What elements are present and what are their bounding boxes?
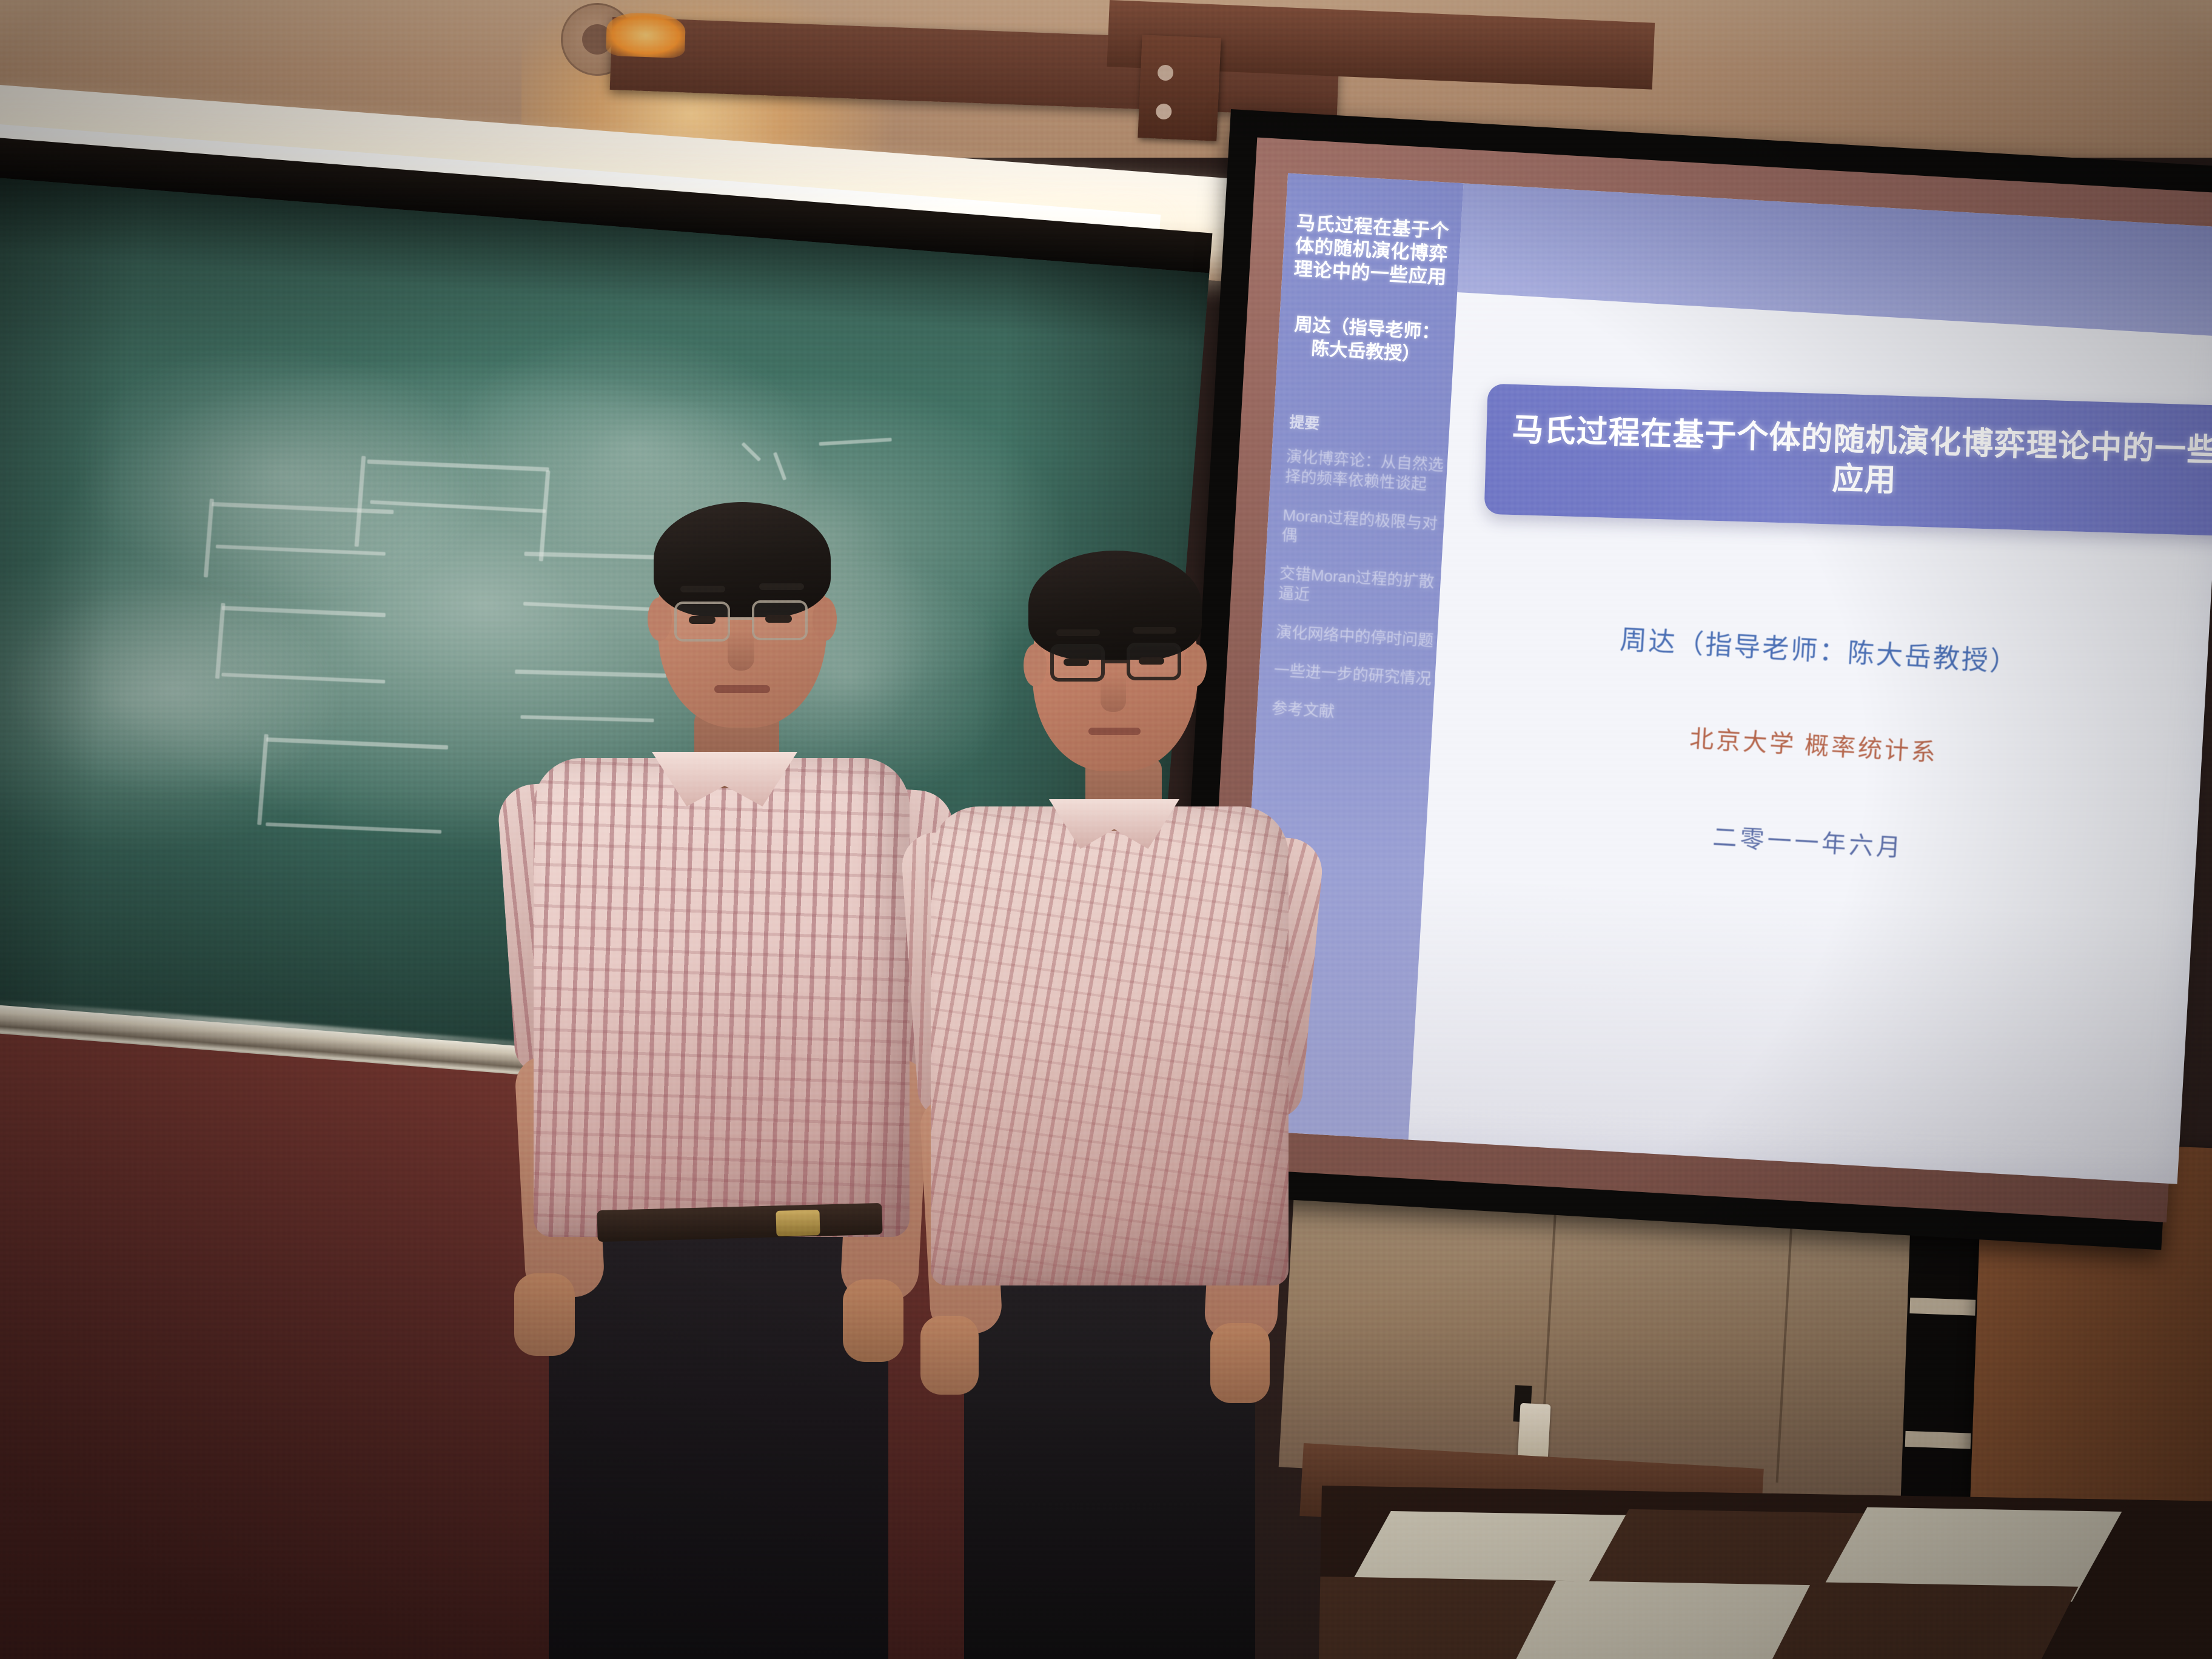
person-right-hand-left (920, 1316, 979, 1395)
shelf-edge (1909, 1298, 1976, 1316)
classroom-photo-scene: 马氏过程在基于个体的随机演化博弈理论中的一些应用 周达（指导老师：陈大岳教授） … (0, 0, 2212, 1659)
person-right-ear (1184, 644, 1207, 686)
person-left-eye (689, 616, 716, 624)
ceiling-light-bulb (606, 12, 686, 58)
person-left-eyebrow (759, 583, 804, 590)
person-left-hand-left (514, 1273, 575, 1356)
person-right-eye (1139, 657, 1164, 665)
sidebar-outline-item[interactable]: 演化博弈论：从自然选择的频率依赖性谈起 (1284, 446, 1444, 495)
person-left-belt-buckle (776, 1210, 820, 1236)
person-left-eye (765, 615, 792, 623)
sidebar-outline-item[interactable]: 交错Moran过程的扩散逼近 (1278, 563, 1437, 612)
slide-date-line: 二零一一年六月 (1450, 802, 2166, 879)
person-right-shirt (931, 806, 1289, 1285)
screen-mount-bracket (1138, 35, 1221, 141)
person-right-eye (1064, 659, 1089, 666)
person-left-hand-right (843, 1279, 903, 1362)
sidebar-outline-list: 演化博弈论：从自然选择的频率依赖性谈起 Moran过程的极限与对偶 交错Mora… (1270, 446, 1444, 746)
person-left-mouth (714, 685, 770, 693)
power-outlet (1518, 1403, 1551, 1462)
person-right-mouth (1088, 728, 1141, 735)
person-right-nose (1101, 674, 1126, 712)
person-right-eyebrow (1056, 629, 1100, 636)
sidebar-title: 马氏过程在基于个体的随机演化博弈理论中的一些应用 (1292, 211, 1452, 289)
projected-slide: 马氏过程在基于个体的随机演化博弈理论中的一些应用 周达（指导老师：陈大岳教授） … (1233, 173, 2212, 1184)
sidebar-author: 周达（指导老师：陈大岳教授） (1287, 313, 1446, 367)
sidebar-outline-item[interactable]: 一些进一步的研究情况 (1273, 660, 1432, 689)
bracket-bolt-icon (1156, 103, 1172, 119)
bracket-bolt-icon (1158, 64, 1174, 81)
person-right-eyebrow (1133, 627, 1176, 634)
person-left-shirt (534, 758, 910, 1237)
projector-screen: 马氏过程在基于个体的随机演化博弈理论中的一些应用 周达（指导老师：陈大岳教授） … (1168, 109, 2212, 1250)
person-right-hand-right (1210, 1323, 1270, 1403)
person-left-nose (728, 631, 754, 671)
slide-affiliation-line: 北京大学 概率统计系 (1456, 705, 2172, 782)
sidebar-outline-item[interactable]: 参考文献 (1271, 699, 1429, 728)
floor-tile (1761, 1582, 2078, 1659)
slide-title-text: 马氏过程在基于个体的随机演化博弈理论中的一些应用 (1498, 410, 2212, 510)
tile-floor (1319, 1486, 2212, 1659)
glasses-bridge-icon (730, 617, 752, 620)
slide-title-banner: 马氏过程在基于个体的随机演化博弈理论中的一些应用 (1484, 384, 2212, 537)
person-left-hair (654, 502, 831, 617)
shelf-edge (1905, 1431, 1971, 1449)
person-right-ear (1024, 644, 1047, 686)
person-left-ear (813, 597, 837, 641)
sidebar-outline-item[interactable]: Moran过程的极限与对偶 (1281, 505, 1441, 554)
sidebar-outline-item[interactable]: 演化网络中的停时问题 (1276, 622, 1434, 651)
slide-author-line: 周达（指导老师：陈大岳教授） (1461, 608, 2178, 688)
glasses-bridge-icon (1105, 660, 1127, 663)
floor-tile (1507, 1581, 1823, 1659)
person-left-eyebrow (680, 586, 725, 592)
